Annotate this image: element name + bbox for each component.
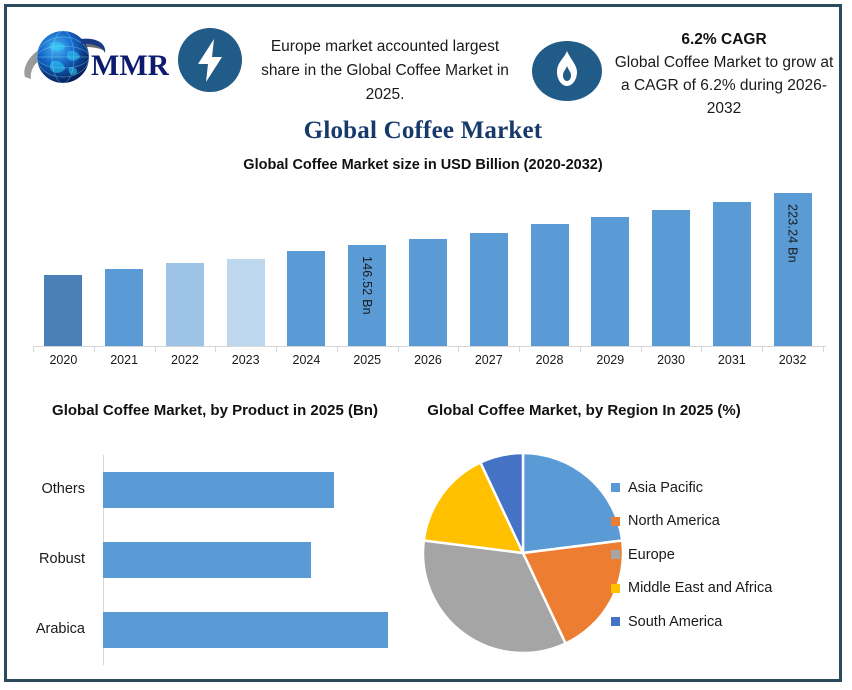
bar-2025: 146.52 Bn — [348, 245, 386, 346]
legend-swatch-icon — [611, 584, 620, 593]
product-chart-title: Global Coffee Market, by Product in 2025… — [33, 399, 397, 423]
header: MMR Europe market accounted largest shar… — [7, 7, 839, 115]
lightning-bolt-icon — [177, 27, 243, 93]
legend-label: North America — [628, 513, 720, 529]
bar-2023 — [227, 259, 265, 346]
bar-chart-title: Global Coffee Market size in USD Billion… — [7, 157, 839, 173]
bar-column: 223.24 Bn — [762, 181, 823, 346]
legend-item-middle-east-and-africa: Middle East and Africa — [611, 572, 839, 606]
bar-2027 — [470, 233, 508, 346]
axis-tick — [215, 346, 216, 352]
bar-column — [580, 181, 641, 346]
infographic-container: MMR Europe market accounted largest shar… — [4, 4, 842, 682]
cagr-description: Global Coffee Market to grow at a CAGR o… — [611, 51, 837, 120]
bar-2020 — [44, 275, 82, 346]
bar-column — [155, 181, 216, 346]
bar-column — [398, 181, 459, 346]
x-axis-label-2026: 2026 — [398, 353, 459, 367]
bar-chart-plot-area: 146.52 Bn223.24 Bn — [33, 181, 823, 346]
bar-2030 — [652, 210, 690, 346]
legend-label: Middle East and Africa — [628, 580, 772, 596]
x-axis-label-2022: 2022 — [155, 353, 216, 367]
bar-2029 — [591, 217, 629, 346]
market-size-bar-chart: Global Coffee Market size in USD Billion… — [7, 157, 839, 387]
bar-column — [458, 181, 519, 346]
x-axis-label-2029: 2029 — [580, 353, 641, 367]
bar-2026 — [409, 239, 447, 346]
x-axis-label-2030: 2030 — [641, 353, 702, 367]
bar-2028 — [531, 224, 569, 346]
bar-column: 146.52 Bn — [337, 181, 398, 346]
product-bar-arabica — [103, 612, 388, 648]
legend-item-south-america: South America — [611, 605, 839, 639]
legend-label: South America — [628, 614, 722, 630]
axis-tick — [398, 346, 399, 352]
legend-label: Asia Pacific — [628, 480, 703, 496]
product-bar-robust — [103, 542, 311, 578]
x-axis-label-2025: 2025 — [337, 353, 398, 367]
bar-2032: 223.24 Bn — [774, 193, 812, 346]
x-axis-label-2024: 2024 — [276, 353, 337, 367]
product-chart-plot-area: OthersRobustArabica — [103, 455, 388, 665]
axis-tick — [519, 346, 520, 352]
legend-swatch-icon — [611, 517, 620, 526]
x-axis-label-2028: 2028 — [519, 353, 580, 367]
bar-2031 — [713, 202, 751, 346]
bar-value-label: 223.24 Bn — [786, 204, 800, 263]
x-axis-label-2032: 2032 — [762, 353, 823, 367]
bar-column — [215, 181, 276, 346]
axis-tick — [701, 346, 702, 352]
product-category-label-robust: Robust — [0, 551, 85, 567]
axis-tick — [33, 346, 34, 352]
axis-tick — [276, 346, 277, 352]
bar-column — [701, 181, 762, 346]
bar-chart-x-axis — [33, 346, 826, 347]
x-axis-label-2021: 2021 — [94, 353, 155, 367]
legend-swatch-icon — [611, 483, 620, 492]
bar-column — [641, 181, 702, 346]
axis-tick — [155, 346, 156, 352]
bar-column — [94, 181, 155, 346]
product-bar-others — [103, 472, 334, 508]
cagr-value: 6.2% CAGR — [611, 29, 837, 51]
bar-2024 — [287, 251, 325, 346]
x-axis-label-2027: 2027 — [458, 353, 519, 367]
stat-right-block: 6.2% CAGR Global Coffee Market to grow a… — [611, 29, 837, 120]
product-category-label-arabica: Arabica — [0, 621, 85, 637]
legend-swatch-icon — [611, 550, 620, 559]
product-bar-chart: Global Coffee Market, by Product in 2025… — [15, 399, 415, 675]
pie-legend: Asia PacificNorth AmericaEuropeMiddle Ea… — [611, 471, 839, 639]
pie-graphic — [417, 447, 629, 659]
axis-tick — [823, 346, 824, 352]
bar-column — [33, 181, 94, 346]
legend-item-north-america: North America — [611, 505, 839, 539]
stat-left-text: Europe market accounted largest share in… — [255, 35, 515, 107]
bar-column — [276, 181, 337, 346]
axis-tick — [94, 346, 95, 352]
x-axis-label-2023: 2023 — [215, 353, 276, 367]
bar-column — [519, 181, 580, 346]
region-chart-title: Global Coffee Market, by Region In 2025 … — [419, 399, 749, 423]
product-category-label-others: Others — [0, 481, 85, 497]
pie-slice-asia-pacific — [523, 453, 622, 553]
axis-tick — [337, 346, 338, 352]
page-title: Global Coffee Market — [7, 117, 839, 145]
axis-tick — [641, 346, 642, 352]
axis-tick — [458, 346, 459, 352]
axis-tick — [580, 346, 581, 352]
legend-item-asia-pacific: Asia Pacific — [611, 471, 839, 505]
axis-tick — [762, 346, 763, 352]
bar-2022 — [166, 263, 204, 346]
legend-label: Europe — [628, 547, 675, 563]
legend-item-europe: Europe — [611, 538, 839, 572]
legend-swatch-icon — [611, 617, 620, 626]
x-axis-label-2031: 2031 — [701, 353, 762, 367]
pie-slices — [417, 447, 629, 659]
svg-text:MMR: MMR — [91, 49, 169, 82]
bar-value-label: 146.52 Bn — [360, 256, 374, 315]
bar-2021 — [105, 269, 143, 346]
globe-icon: MMR — [19, 21, 169, 97]
mmr-logo: MMR — [19, 21, 169, 97]
flame-icon — [531, 40, 603, 102]
region-pie-chart: Global Coffee Market, by Region In 2025 … — [411, 399, 839, 675]
x-axis-label-2020: 2020 — [33, 353, 94, 367]
